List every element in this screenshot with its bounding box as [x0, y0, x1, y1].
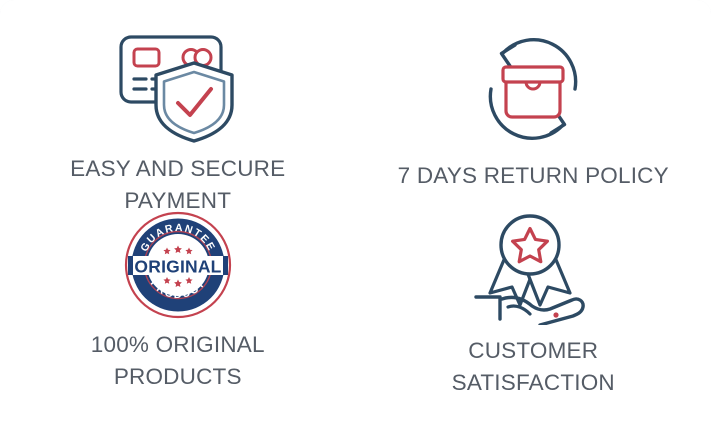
feature-label-seven-days-return-policy: 7 DAYS RETURN POLICY — [398, 160, 669, 192]
return-box-arrows-icon — [474, 30, 592, 148]
guarantee-original-product-badge-icon: GUARANTEE PRODUCT — [124, 211, 232, 319]
features-panel: EASY AND SECURE PAYMENT — [0, 0, 711, 443]
feature-label-customer-satisfaction: CUSTOMER SATISFACTION — [408, 335, 658, 399]
feature-easy-and-secure-payment[interactable]: EASY AND SECURE PAYMENT — [0, 0, 356, 205]
badge-center-text: ORIGINAL — [134, 257, 221, 277]
features-grid: EASY AND SECURE PAYMENT — [0, 0, 711, 443]
feature-customer-satisfaction[interactable]: CUSTOMER SATISFACTION — [356, 205, 711, 443]
feature-original-products[interactable]: GUARANTEE PRODUCT — [0, 205, 356, 443]
feature-seven-days-return-policy[interactable]: 7 DAYS RETURN POLICY — [356, 0, 711, 205]
credit-card-shield-icon — [112, 27, 244, 145]
feature-label-original-products: 100% ORIGINAL PRODUCTS — [68, 329, 288, 393]
hand-holding-award-medal-icon — [468, 205, 598, 327]
